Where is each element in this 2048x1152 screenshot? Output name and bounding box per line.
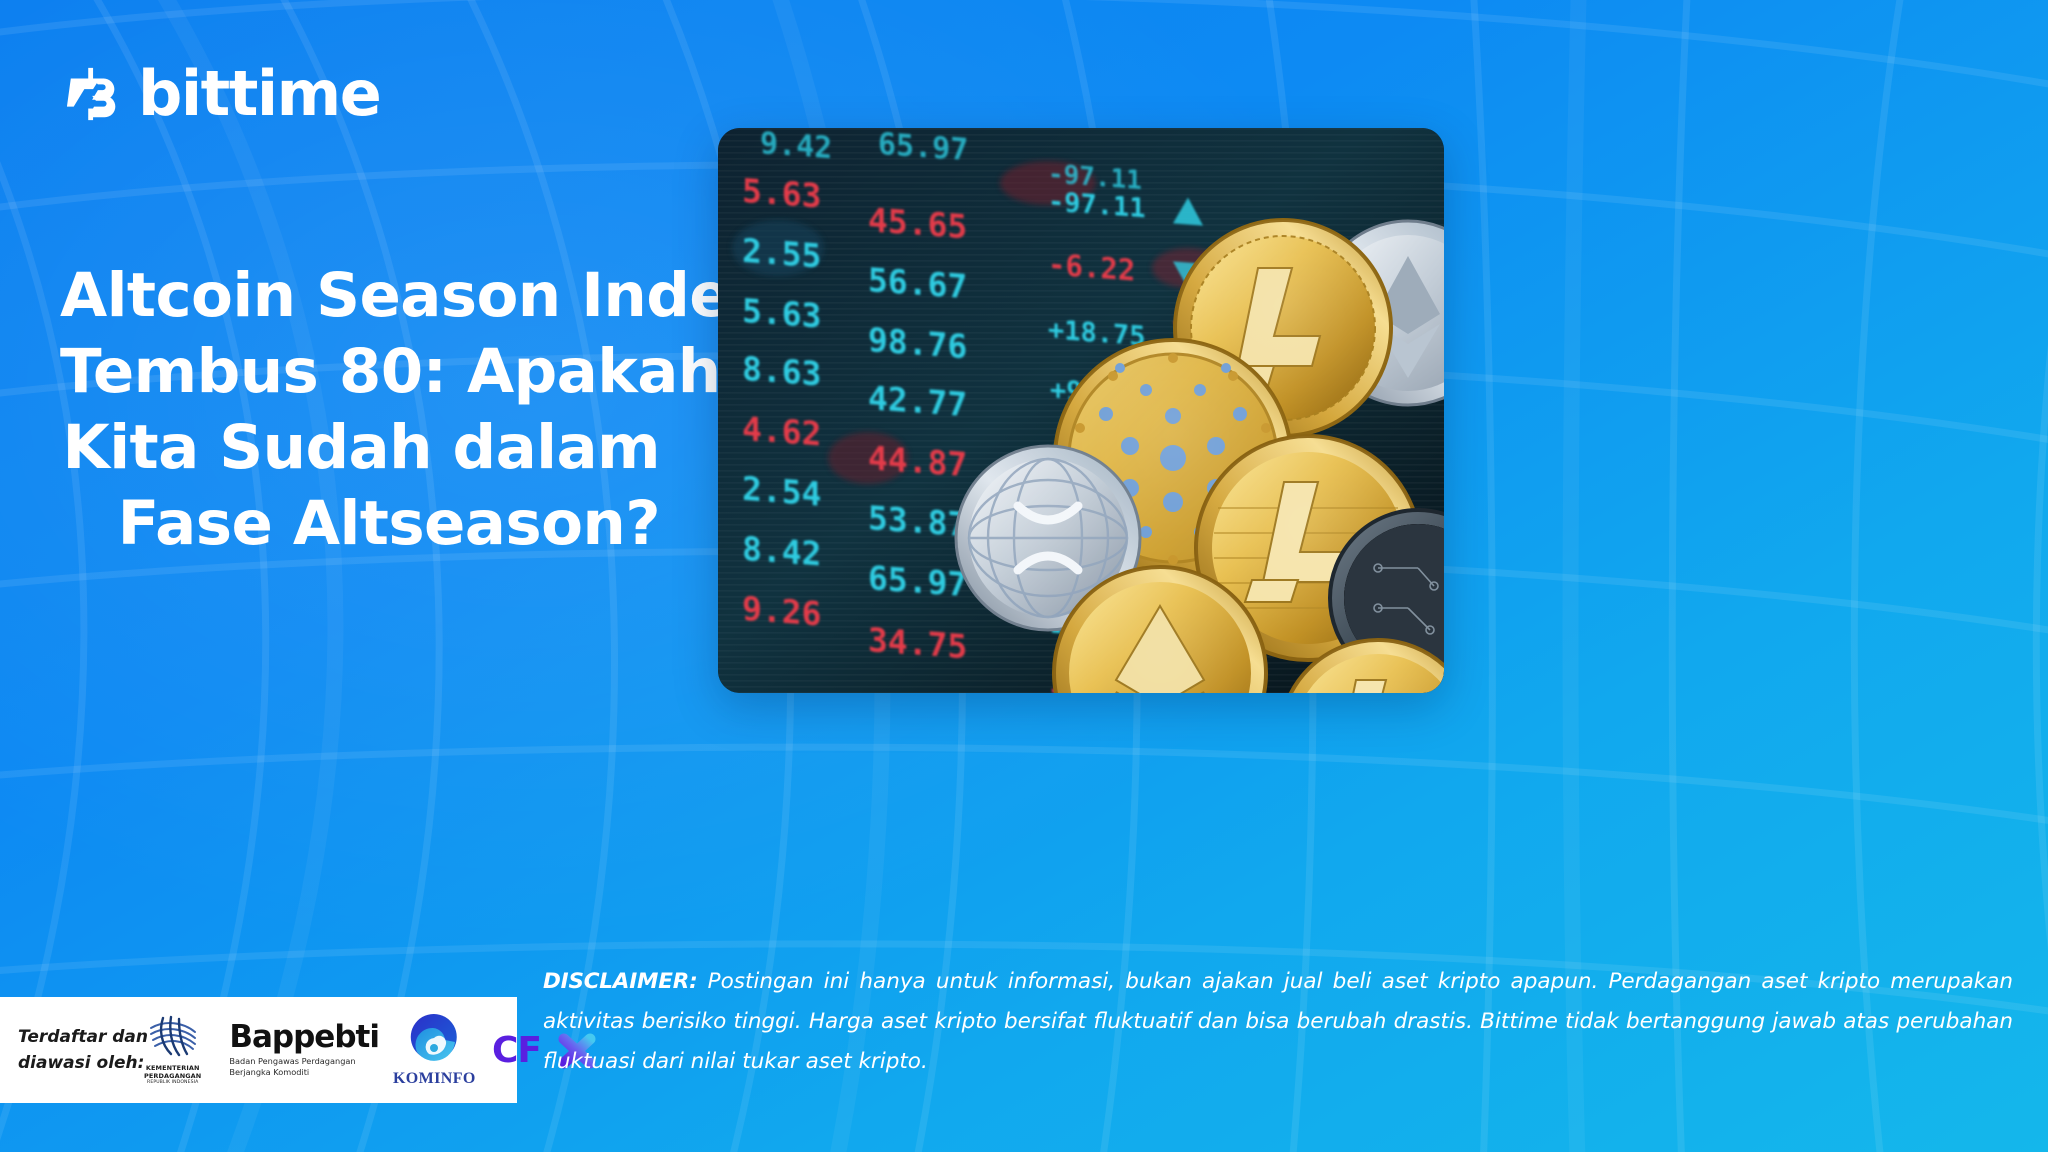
- disclaimer-body: Postingan ini hanya untuk informasi, buk…: [543, 969, 2013, 1074]
- disclaimer-label: DISCLAIMER:: [543, 969, 697, 994]
- svg-text:-6.22: -6.22: [1048, 247, 1135, 287]
- headline-line-4: Fase Altseason?: [60, 486, 660, 562]
- regulator-label-line-1: Terdaftar dan: [18, 1024, 144, 1050]
- bittime-b-icon: [66, 64, 124, 124]
- bappebti-sub-line-2: Berjangka Komoditi: [229, 1067, 309, 1077]
- svg-text:2.54: 2.54: [742, 469, 821, 514]
- svg-text:42.77: 42.77: [868, 378, 967, 424]
- bappebti-sub-line-1: Badan Pengawas Perdagangan: [229, 1056, 355, 1066]
- kemendag-caption: KEMENTERIAN PERDAGANGAN REPUBLIK INDONES…: [144, 1065, 201, 1086]
- svg-text:8.42: 8.42: [742, 529, 821, 574]
- kominfo-name: KOMINFO: [393, 1070, 476, 1088]
- kominfo-badge: KOMINFO: [393, 1012, 476, 1088]
- svg-text:4.62: 4.62: [742, 409, 821, 454]
- svg-text:56.67: 56.67: [868, 260, 967, 306]
- bappebti-subtitle: Badan Pengawas Perdagangan Berjangka Kom…: [229, 1056, 379, 1077]
- svg-text:98.76: 98.76: [868, 320, 967, 366]
- svg-text:5.63: 5.63: [742, 291, 821, 336]
- svg-text:45.65: 45.65: [868, 200, 967, 246]
- headline-line-3: Kita Sudah dalam: [60, 410, 660, 486]
- brand-logo[interactable]: bittime: [66, 62, 380, 126]
- headline-line-1: Altcoin Season Index: [60, 258, 660, 334]
- bappebti-name: Bappebti: [229, 1022, 379, 1053]
- svg-text:34.75: 34.75: [868, 620, 967, 666]
- kominfo-logo: [407, 1012, 461, 1064]
- svg-text:53.87: 53.87: [868, 498, 967, 544]
- svg-text:2.55: 2.55: [742, 231, 821, 276]
- svg-text:9.26: 9.26: [742, 589, 821, 634]
- svg-text:65.97: 65.97: [868, 558, 967, 604]
- hero-image: 9.42 65.97 -97.11 5.63 45.65 -97.11 2.55…: [718, 128, 1444, 693]
- page-title: Altcoin Season Index Tembus 80: Apakah K…: [60, 258, 660, 562]
- svg-text:8.63: 8.63: [742, 349, 821, 394]
- regulator-label: Terdaftar dan diawasi oleh:: [18, 1024, 144, 1077]
- svg-text:65.97: 65.97: [878, 128, 968, 168]
- regulator-label-line-2: diawasi oleh:: [18, 1050, 144, 1076]
- brand-name: bittime: [138, 63, 380, 125]
- banner-canvas: bittime Altcoin Season Index Tembus 80: …: [0, 0, 2048, 1152]
- disclaimer-text: DISCLAIMER: Postingan ini hanya untuk in…: [543, 962, 2013, 1082]
- kementerian-perdagangan-logo: [145, 1014, 201, 1058]
- svg-text:5.63: 5.63: [742, 171, 821, 216]
- bappebti-badge: Bappebti Badan Pengawas Perdagangan Berj…: [229, 1022, 379, 1077]
- kemendag-badge: KEMENTERIAN PERDAGANGAN REPUBLIK INDONES…: [144, 1014, 201, 1086]
- svg-text:CF: CF: [492, 1030, 541, 1071]
- hero-illustration: 9.42 65.97 -97.11 5.63 45.65 -97.11 2.55…: [718, 128, 1444, 693]
- headline-line-2: Tembus 80: Apakah: [60, 334, 660, 410]
- svg-text:44.87: 44.87: [868, 438, 967, 484]
- svg-text:9.42: 9.42: [760, 128, 832, 166]
- kemendag-line-3: REPUBLIK INDONESIA: [144, 1080, 201, 1085]
- kemendag-line-2: PERDAGANGAN: [144, 1072, 201, 1080]
- regulator-badge-bar: Terdaftar dan diawasi oleh: KEMENTERIAN: [0, 997, 517, 1103]
